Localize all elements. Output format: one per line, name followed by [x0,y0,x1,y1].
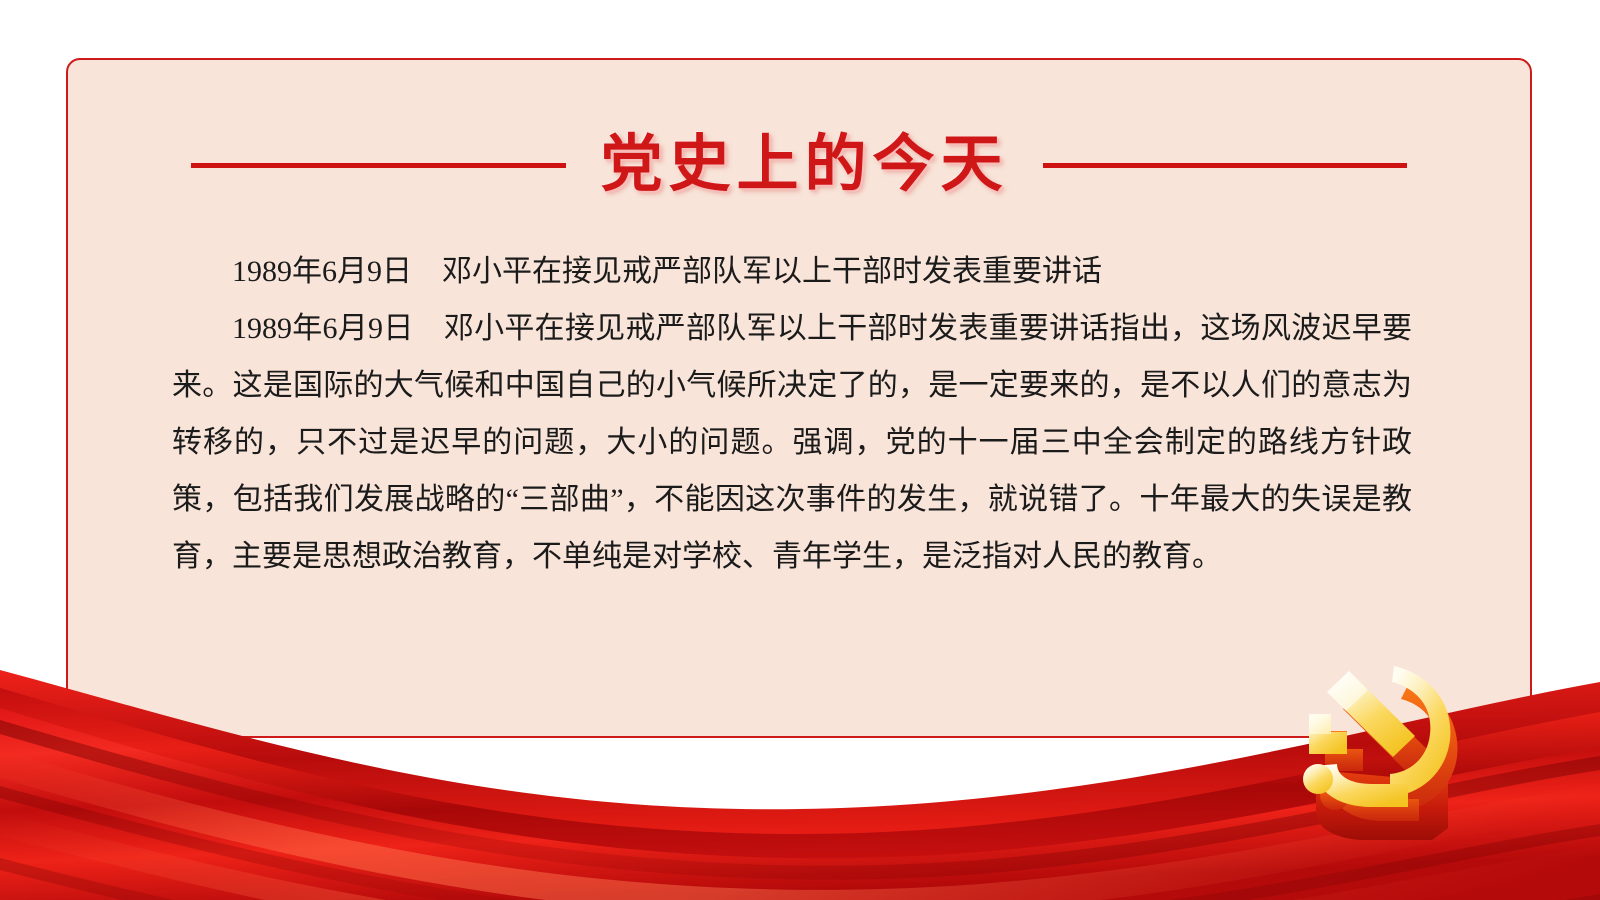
article-headline: 1989年6月9日 邓小平在接见戒严部队军以上干部时发表重要讲话 [172,243,1412,300]
cpc-hammer-sickle-emblem [1282,662,1492,852]
article-body: 1989年6月9日 邓小平在接见戒严部队军以上干部时发表重要讲话 1989年6月… [172,243,1412,585]
article-paragraph: 1989年6月9日 邓小平在接见戒严部队军以上干部时发表重要讲话指出，这场风波迟… [172,300,1412,585]
slide-canvas: 党史上的今天 1989年6月9日 邓小平在接见戒严部队军以上干部时发表重要讲话 … [0,0,1600,900]
